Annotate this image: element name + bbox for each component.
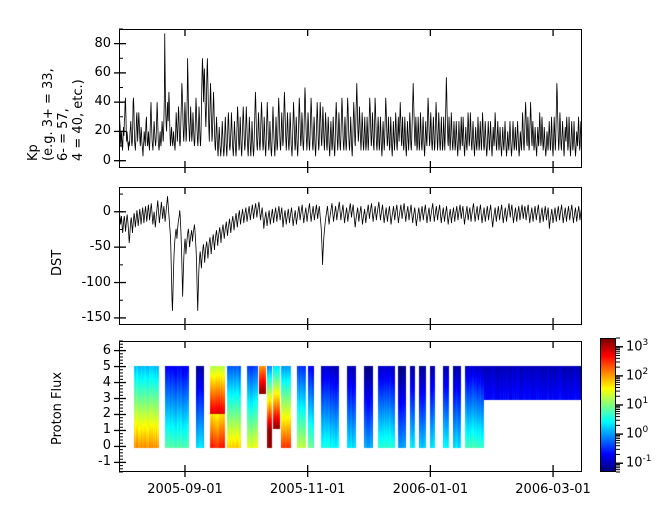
xtick-label: 2006-03-01 <box>509 482 597 497</box>
bottom-ytick-label: 2 <box>103 406 111 421</box>
xtick-label: 2005-11-01 <box>264 482 352 497</box>
top-ytick-label: 0 <box>103 153 111 168</box>
top-series-line <box>119 29 582 168</box>
figure-canvas: 020406080Kp(e.g. 3+ = 33,6- = 57,4 = 40,… <box>0 0 665 523</box>
kp-axis-title-line: Kp <box>26 144 41 161</box>
bottom-ytick-label: 1 <box>103 422 111 437</box>
protonflux-heatmap-canvas <box>120 342 581 471</box>
top-ytick-label: 40 <box>94 94 111 109</box>
middle-series-line <box>119 187 582 325</box>
bottom-ytick-label: 5 <box>103 359 111 374</box>
xtick-label: 2006-01-01 <box>386 482 474 497</box>
colorbar-tick-label: 103 <box>626 338 648 354</box>
bottom-ytick-label: 4 <box>103 375 111 390</box>
colorbar-tick-exponent: 3 <box>643 338 649 348</box>
xtick-label: 2005-09-01 <box>141 482 229 497</box>
dst-axis-title: DST <box>50 250 65 276</box>
colorbar-tick-label: 102 <box>626 367 648 383</box>
middle-ytick-label: 0 <box>103 204 111 219</box>
bottom-ytick-label: -1 <box>98 454 111 469</box>
colorbar-tick-label: 100 <box>626 425 648 441</box>
bottom-ytick-label: 0 <box>103 438 111 453</box>
bottom-ytick-label: 6 <box>103 343 111 358</box>
bottom-ytick-label: 3 <box>103 391 111 406</box>
kp-axis-title-line: 6- = 57, <box>56 108 71 161</box>
middle-ytick-label: -100 <box>81 275 111 290</box>
kp-axis-title-line: 4 = 40, etc.) <box>71 79 86 161</box>
colorbar-tick-exponent: 1 <box>643 396 649 406</box>
colorbar-tick-label: 10-1 <box>626 454 652 470</box>
colorbar <box>600 338 616 472</box>
colorbar-tick-exponent: -1 <box>643 454 652 464</box>
colorbar-tick-exponent: 0 <box>643 425 649 435</box>
top-ytick-label: 60 <box>94 65 111 80</box>
kp-axis-title-line: (e.g. 3+ = 33, <box>41 68 56 161</box>
top-ytick-label: 80 <box>94 36 111 51</box>
top-ytick-label: 20 <box>94 123 111 138</box>
protonflux-axis-title: Proton Flux <box>50 371 65 444</box>
protonflux-heatmap <box>120 342 581 471</box>
middle-ytick-label: -150 <box>81 310 111 325</box>
colorbar-tick-exponent: 2 <box>643 367 649 377</box>
colorbar-tick-label: 101 <box>626 396 648 412</box>
middle-ytick-label: -50 <box>90 239 111 254</box>
colorbar-gradient <box>601 339 615 471</box>
